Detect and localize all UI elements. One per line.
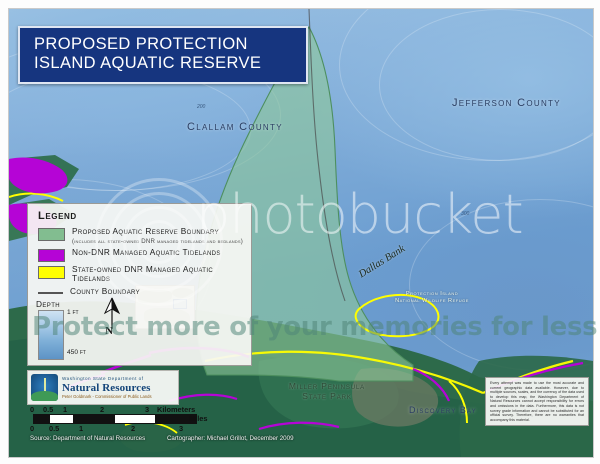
legend-swatch-non-dnr (38, 249, 65, 262)
legend-swatch-county-line (38, 292, 63, 294)
scale-unit-kilometers: Kilometers (157, 405, 195, 414)
logo-commissioner-line: Peter Goldmark - Commissioner of Public … (62, 394, 152, 400)
title-line-2: ISLAND AQUATIC RESERVE (34, 54, 294, 73)
depth-max-label: 450 ft (67, 349, 86, 356)
km-tick-0.5: 0.5 (43, 405, 53, 414)
north-arrow-label: N (105, 325, 113, 337)
legend-swatch-reserve (38, 228, 65, 241)
credits-line: Source: Department of Natural Resources … (30, 435, 314, 442)
disclaimer-box: Every attempt was made to use the most a… (485, 377, 589, 426)
legend-sublabel-reserve: (includes all state-owned DNR managed ti… (72, 238, 243, 245)
depth-min-label: 1 ft (67, 309, 79, 316)
km-tick-3: 3 (145, 405, 149, 414)
agency-logo: Washington State Department of Natural R… (27, 370, 179, 405)
mi-tick-1: 1 (79, 424, 83, 433)
legend-panel: Legend Proposed Aquatic Reserve Boundary… (27, 203, 252, 366)
legend-label-county: County Boundary (70, 287, 140, 297)
legend-depth-ramp: Depth 1 ft 450 ft (36, 299, 243, 361)
logo-text-block: Washington State Department of Natural R… (62, 376, 152, 400)
km-tick-0: 0 (30, 405, 34, 414)
scale-bar-graphic (33, 414, 197, 424)
map-title: PROPOSED PROTECTION ISLAND AQUATIC RESER… (18, 26, 308, 84)
depth-heading: Depth (36, 299, 243, 309)
logo-hill-shape (31, 391, 58, 401)
legend-text-reserve: Proposed Aquatic Reserve Boundary (72, 226, 219, 236)
km-tick-2: 2 (100, 405, 104, 414)
source-text: Source: Department of Natural Resources (30, 435, 145, 442)
cartographer-text: Cartographer: Michael Grillot, December … (167, 435, 294, 442)
legend-label-reserve: Proposed Aquatic Reserve Boundary (inclu… (72, 227, 243, 245)
legend-label-non-dnr: Non-DNR Managed Aquatic Tidelands (72, 248, 221, 258)
legend-item-non-dnr-tidelands: Non-DNR Managed Aquatic Tidelands (36, 248, 243, 262)
mi-tick-3: 3 (179, 424, 183, 433)
legend-swatch-dnr (38, 266, 65, 279)
legend-item-county-boundary: County Boundary (36, 287, 243, 297)
logo-title-line: Natural Resources (62, 382, 152, 394)
north-arrow: N (100, 297, 124, 341)
legend-label-dnr: State-owned DNR Managed Aquatic Tideland… (72, 265, 243, 284)
legend-item-dnr-tidelands: State-owned DNR Managed Aquatic Tideland… (36, 265, 243, 284)
km-tick-1: 1 (63, 405, 67, 414)
scale-bar: 0 0.5 1 2 3 Kilometers 0 0.5 1 2 3 Miles (27, 405, 207, 433)
legend-heading: Legend (38, 210, 243, 222)
title-line-1: PROPOSED PROTECTION (34, 35, 294, 54)
scale-unit-miles: Miles (189, 414, 207, 423)
mi-tick-2: 2 (131, 424, 135, 433)
depth-gradient-bar (38, 310, 64, 360)
legend-item-reserve-boundary: Proposed Aquatic Reserve Boundary (inclu… (36, 227, 243, 245)
mi-tick-0.5: 0.5 (49, 424, 59, 433)
logo-department-line: Washington State Department of (62, 376, 152, 382)
dnr-logo-icon (31, 374, 58, 401)
mi-tick-0: 0 (30, 424, 34, 433)
map-figure: Clallam County Jefferson County Dallas B… (0, 0, 600, 464)
